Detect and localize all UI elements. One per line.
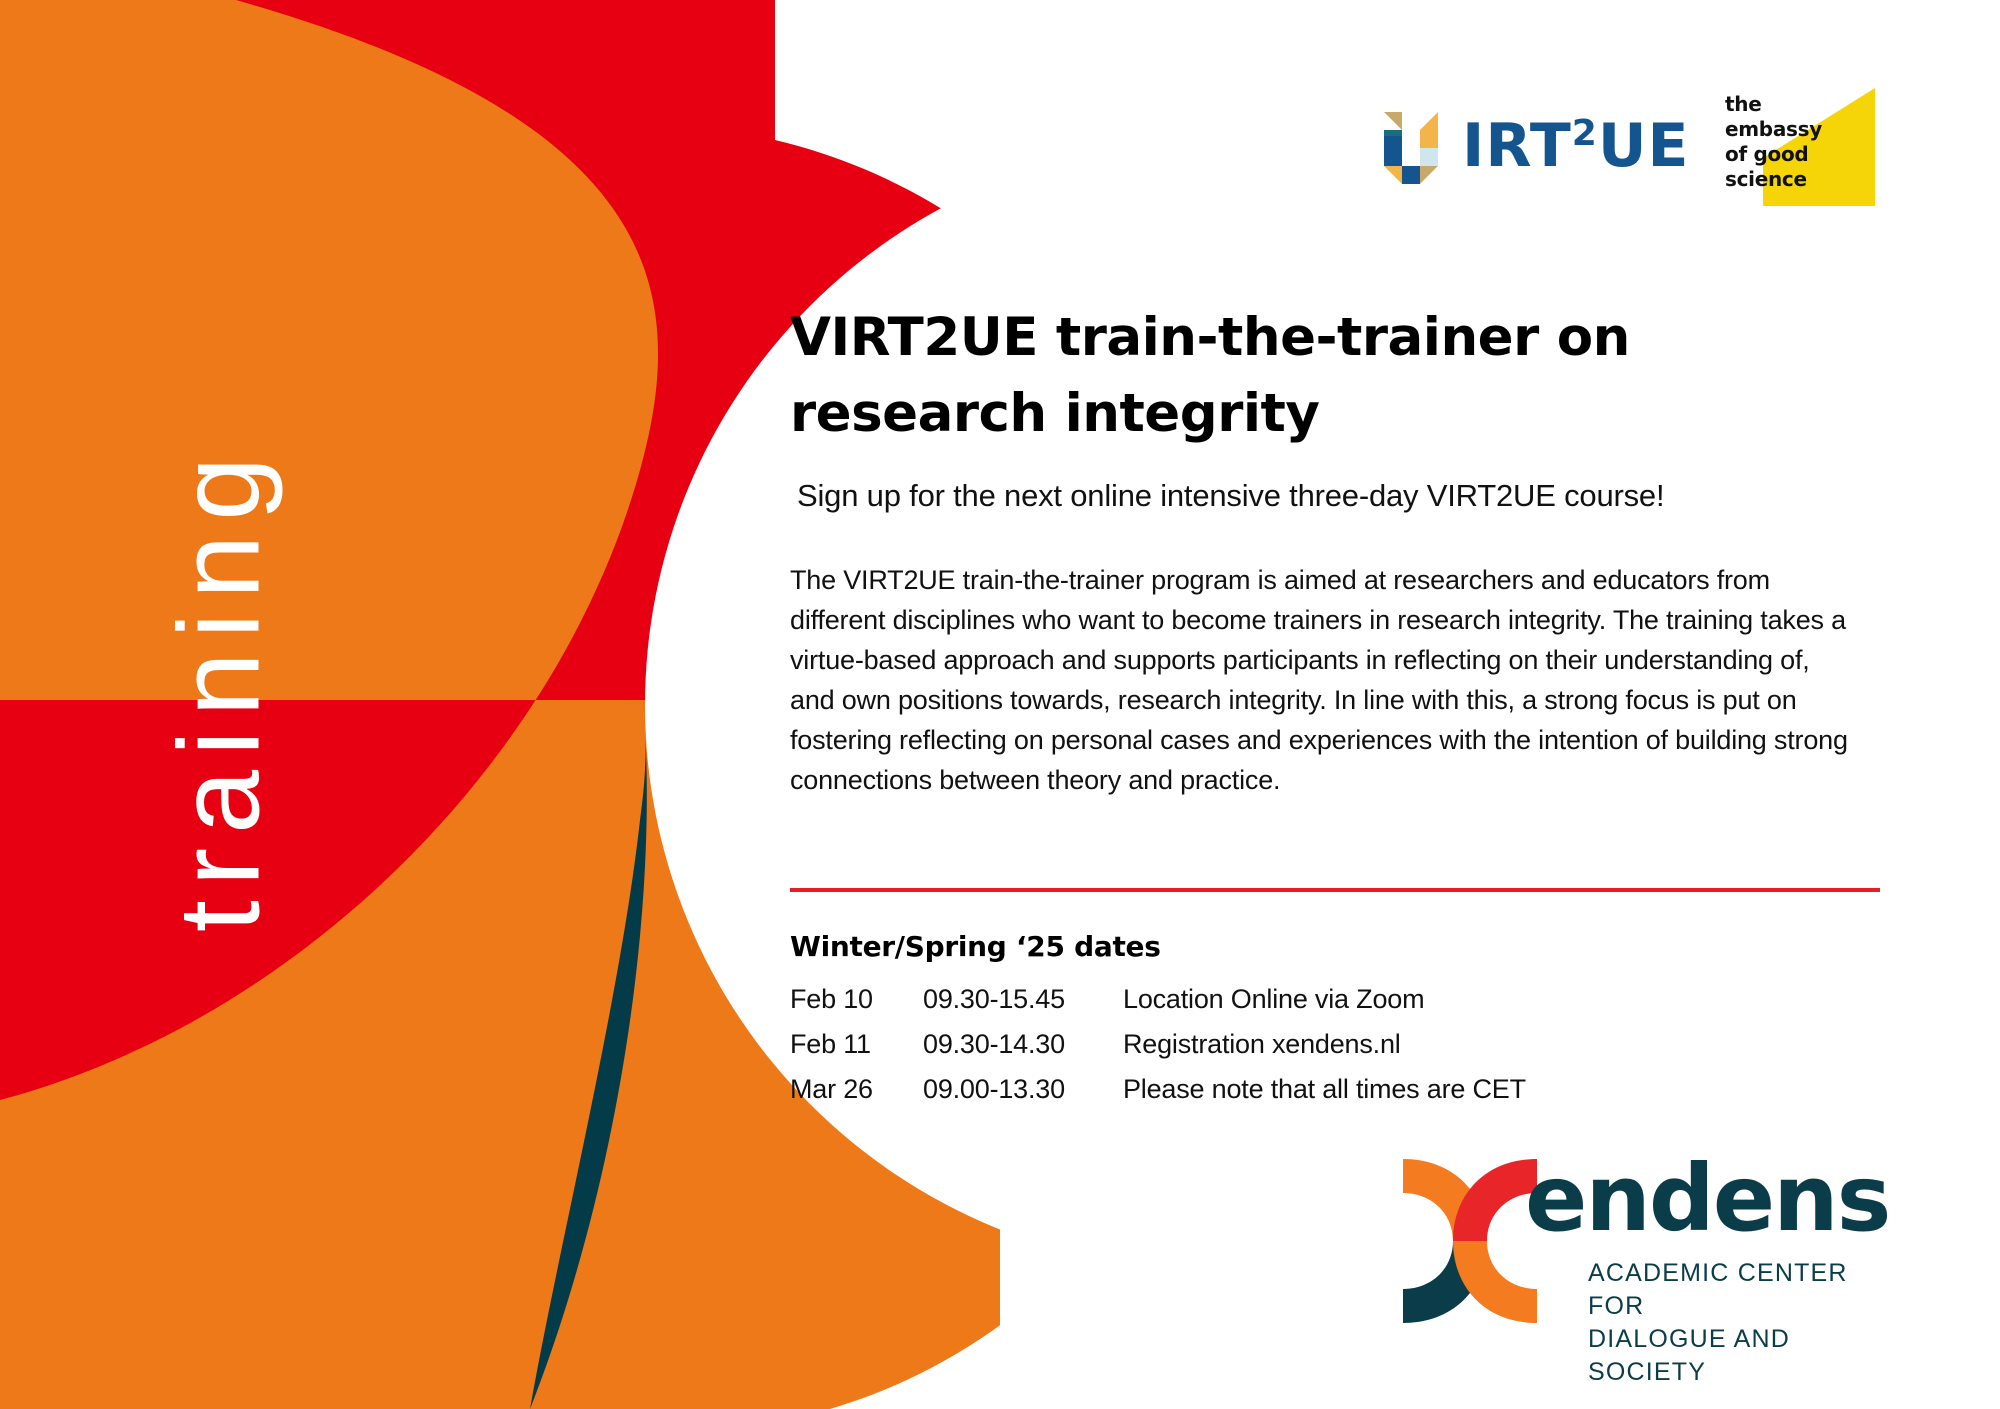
xendens-tagline: ACADEMIC CENTER FOR DIALOGUE AND SOCIETY [1588,1257,1875,1389]
time-cell: 09.30-14.30 [923,1022,1123,1067]
vertical-training-label: training [163,288,278,1088]
xendens-tagline-line-1: ACADEMIC CENTER FOR [1588,1257,1875,1323]
virt2ue-superscript: 2 [1572,113,1598,154]
note-cell: Registration xendens.nl [1123,1022,1890,1067]
virt2ue-word-after: UE [1598,111,1690,181]
virt2ue-wordmark: IRT2UE [1462,116,1690,176]
embassy-line-1: the [1725,92,1822,117]
section-divider [790,888,1880,892]
table-row: Feb 11 09.30-14.30 Registration xendens.… [790,1022,1890,1067]
date-cell: Mar 26 [790,1067,923,1112]
virt2ue-v-mark [1380,106,1452,186]
poster-canvas: training [0,0,2000,1409]
xendens-x-mark [1395,1151,1545,1331]
note-cell: Location Online via Zoom [1123,977,1890,1022]
xendens-wordmark: endens [1525,1153,1889,1245]
time-cell: 09.30-15.45 [923,977,1123,1022]
dates-section: Winter/Spring ‘25 dates Feb 10 09.30-15.… [790,930,1890,1112]
embassy-line-2: embassy [1725,117,1822,142]
page-subtitle: Sign up for the next online intensive th… [797,476,1890,516]
note-cell: Please note that all times are CET [1123,1067,1890,1112]
table-row: Mar 26 09.00-13.30 Please note that all … [790,1067,1890,1112]
dates-heading: Winter/Spring ‘25 dates [790,930,1890,963]
header-logo-group: IRT2UE the embassy of good science [1380,88,1900,208]
date-cell: Feb 11 [790,1022,923,1067]
body-paragraph: The VIRT2UE train-the-trainer program is… [790,560,1860,800]
table-row: Feb 10 09.30-15.45 Location Online via Z… [790,977,1890,1022]
embassy-line-3: of good [1725,142,1822,167]
virt2ue-logo: IRT2UE [1380,106,1690,186]
embassy-wordmark: the embassy of good science [1725,92,1822,192]
xendens-logo: endens ACADEMIC CENTER FOR DIALOGUE AND … [1395,1145,1875,1345]
time-cell: 09.00-13.30 [923,1067,1123,1112]
content-column: VIRT2UE train-the-trainer on research in… [790,300,1890,800]
virt2ue-word-before: IRT [1462,111,1572,181]
page-title-line-2: research integrity [790,383,1319,444]
page-title-line-1: VIRT2UE train-the-trainer on [790,307,1630,368]
page-title: VIRT2UE train-the-trainer on research in… [790,300,1890,452]
embassy-line-4: science [1725,167,1822,192]
date-cell: Feb 10 [790,977,923,1022]
embassy-logo: the embassy of good science [1725,88,1875,206]
xendens-tagline-line-2: DIALOGUE AND SOCIETY [1588,1323,1875,1389]
